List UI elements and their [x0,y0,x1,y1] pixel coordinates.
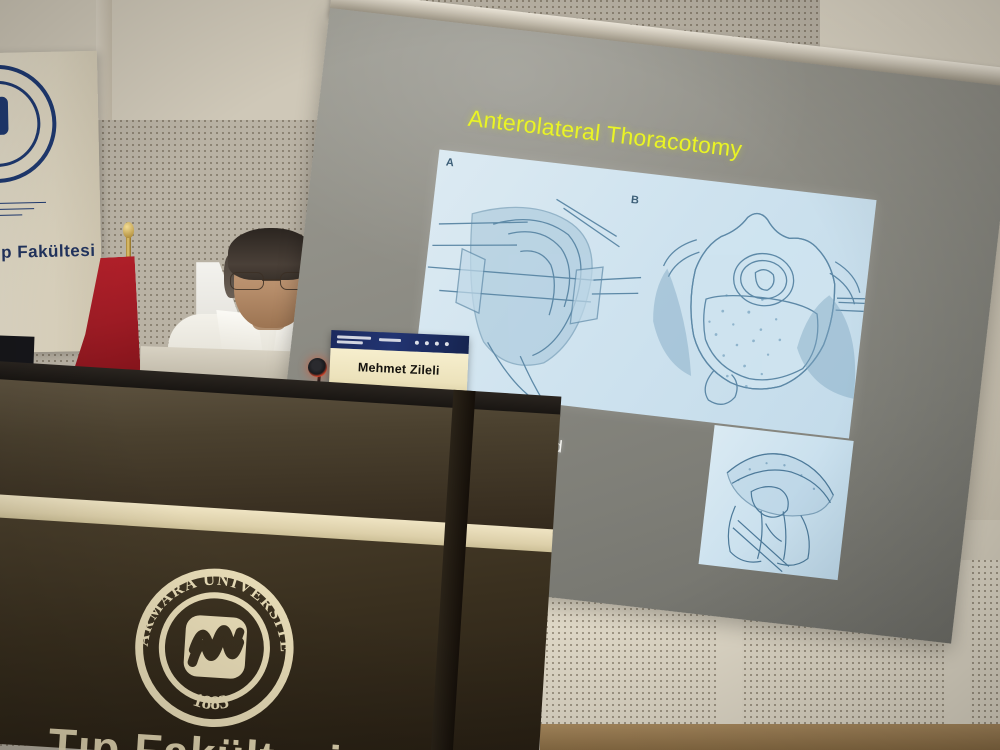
banner-seal-icon [0,64,58,184]
anatomy-illustration-rib-head [699,425,854,580]
presentation-photo-scene: Tıp Fakültesi Anterolateral Thoracotomy [0,0,1000,750]
wood-baseboard [540,724,1000,750]
glasses-bridge [262,279,280,281]
banner-rule-3 [0,214,22,216]
slide-figure-secondary [699,425,854,580]
desk-device [0,335,34,364]
lectern-podium: MARMARA ÜNİVERSİTESİ 1883 Tıp Fakültesi [0,360,561,750]
svg-text:1883: 1883 [190,689,232,715]
university-seal-icon: MARMARA ÜNİVERSİTESİ 1883 [122,555,308,741]
flag-finial-left-icon [123,222,134,238]
glasses-lens-left [230,272,264,290]
banner-rule-2 [0,208,34,210]
microphone-icon[interactable] [308,358,327,377]
speaker-name: Mehmet Zileli [329,359,467,379]
banner-m-monogram-icon [0,97,9,136]
figure-label-a: A [445,156,454,169]
banner-rule-1 [0,202,46,204]
figure-label-b: B [630,194,639,207]
wall-divider-1 [96,0,112,120]
banner-faculty-text: Tıp Fakültesi [0,241,96,263]
university-banner: Tıp Fakültesi [0,51,103,353]
